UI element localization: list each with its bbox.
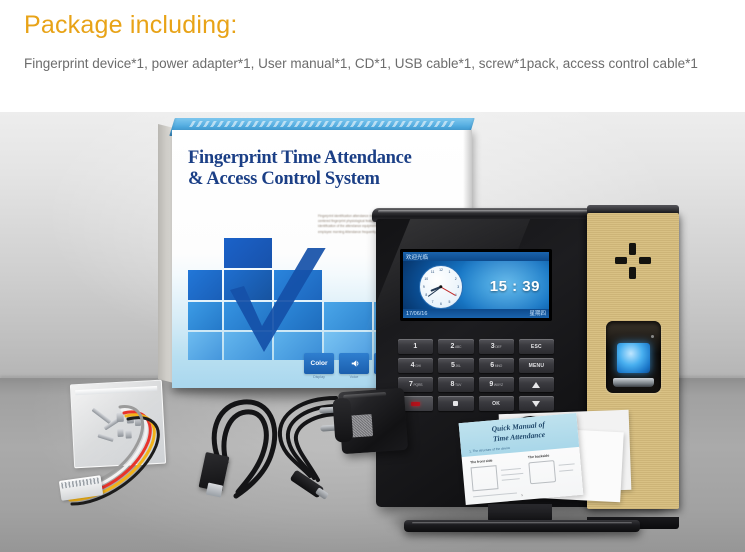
fingerprint-scanner[interactable] — [606, 321, 661, 393]
key-sublabel: ABC — [455, 345, 461, 349]
key-sublabel: DEF — [495, 345, 501, 349]
badge-caption: Voice — [339, 375, 369, 379]
key-4[interactable]: 4GHI — [398, 358, 433, 373]
fingerprint-sensor-surface[interactable] — [617, 343, 650, 373]
clock-numeral: 11 — [431, 270, 435, 274]
key-5[interactable]: 5JKL — [438, 358, 473, 373]
user-manual: Quick Manual of Time Attendance 1. The s… — [459, 413, 584, 505]
clock-numeral: 12 — [439, 268, 443, 272]
manual-caption-left: The front side — [470, 459, 493, 465]
badge-label: Color — [311, 360, 328, 367]
key-number: 1 — [413, 343, 417, 350]
clock-numeral: 3 — [457, 285, 459, 289]
key-number: 7 — [409, 381, 413, 388]
screen-digital-time: 15 : 39 — [490, 278, 540, 295]
box-title-line-1: Fingerprint Time Attendance — [188, 148, 456, 169]
manual-diagram-back — [528, 460, 556, 484]
key-number: 2 — [450, 343, 454, 350]
key-sublabel: JKL — [456, 364, 461, 368]
key-up[interactable] — [519, 377, 554, 392]
speaker-cross-icon — [615, 243, 651, 279]
badge-caption: Display — [304, 375, 334, 379]
badge-color: Color Display — [304, 353, 334, 374]
key-esc[interactable]: ESC — [519, 339, 554, 354]
clock-numeral: 2 — [455, 277, 457, 281]
product-detail-image: Package including: Fingerprint device*1,… — [0, 0, 745, 552]
page-title: Package including: — [24, 11, 237, 40]
key-sublabel: PQRS — [413, 383, 422, 387]
key-stop[interactable] — [438, 396, 473, 411]
voice-icon — [349, 358, 360, 369]
connector-pins — [61, 477, 99, 488]
key-sublabel: WXYZ — [494, 383, 503, 387]
key-sublabel: TUV — [455, 383, 461, 387]
key-1[interactable]: 1 — [398, 339, 433, 354]
manual-section-heading: 1. The structure of the device — [469, 446, 510, 454]
key-label: MENU — [529, 363, 545, 369]
key-number: 6 — [490, 362, 494, 369]
key-number: 4 — [411, 362, 415, 369]
manual-diagram-front — [471, 465, 499, 491]
key-3[interactable]: 3DEF — [479, 339, 514, 354]
key-9[interactable]: 9WXYZ — [479, 377, 514, 392]
eu-plug-base — [332, 398, 353, 443]
key-label: ESC — [531, 344, 542, 350]
key-sublabel: MNO — [495, 364, 502, 368]
screen-date: 17/06/16 — [406, 311, 427, 317]
manual-page-number: 1 — [521, 493, 523, 497]
key-number: 3 — [491, 343, 495, 350]
key-ok[interactable]: OK — [479, 396, 514, 411]
key-8[interactable]: 8TUV — [438, 377, 473, 392]
box-title: Fingerprint Time Attendance & Access Con… — [188, 148, 456, 190]
device-keypad: 1 2ABC 3DEF ESC 4GHI 5JKL 6MNO MENU 7PQR… — [398, 339, 554, 411]
key-number: 9 — [489, 381, 493, 388]
analog-clock: 12 1 2 3 4 5 6 7 8 9 10 11 — [419, 265, 463, 309]
clock-second-hand — [441, 287, 456, 296]
package-contents-description: Fingerprint device*1, power adapter*1, U… — [24, 52, 704, 76]
key-2[interactable]: 2ABC — [438, 339, 473, 354]
arrow-down-icon — [532, 401, 540, 407]
box-title-line-2: & Access Control System — [188, 169, 456, 190]
badge-voice: Voice — [339, 353, 369, 374]
key-menu[interactable]: MENU — [519, 358, 554, 373]
scanner-led-icon — [651, 335, 654, 338]
screen-weekday: 星期四 — [529, 309, 546, 317]
key-down[interactable] — [519, 396, 554, 411]
key-number: 5 — [451, 362, 455, 369]
clock-numeral: 6 — [440, 302, 442, 306]
power-adapter — [338, 388, 408, 454]
key-6[interactable]: 6MNO — [479, 358, 514, 373]
clock-numeral: 5 — [448, 300, 450, 304]
device-lcd-frame: 欢迎光临 17/06/16 星期四 12 1 2 3 4 5 6 7 8 — [400, 249, 552, 321]
box-top-text — [189, 121, 458, 127]
manual-caption-right: The backside — [528, 454, 550, 460]
clock-numeral: 7 — [432, 300, 434, 304]
key-label: OK — [492, 401, 500, 407]
access-control-cable — [58, 400, 188, 510]
checkmark-graphic — [218, 248, 338, 363]
key-sublabel: GHI — [415, 364, 420, 368]
device-screen: 欢迎光临 17/06/16 星期四 12 1 2 3 4 5 6 7 8 — [403, 252, 549, 318]
clock-numeral: 9 — [423, 285, 425, 289]
clock-numeral: 10 — [424, 277, 428, 281]
device-base — [404, 520, 640, 532]
square-stop-icon — [453, 401, 458, 406]
clock-numeral: 1 — [448, 270, 450, 274]
screen-status-text: 欢迎光临 — [406, 253, 428, 261]
scanner-finger-rest — [613, 378, 654, 387]
key-number: 8 — [451, 381, 455, 388]
package-header: Package including: Fingerprint device*1,… — [0, 0, 745, 112]
product-photo: Fingerprint Time Attendance & Access Con… — [0, 100, 745, 552]
arrow-up-icon — [532, 382, 540, 388]
